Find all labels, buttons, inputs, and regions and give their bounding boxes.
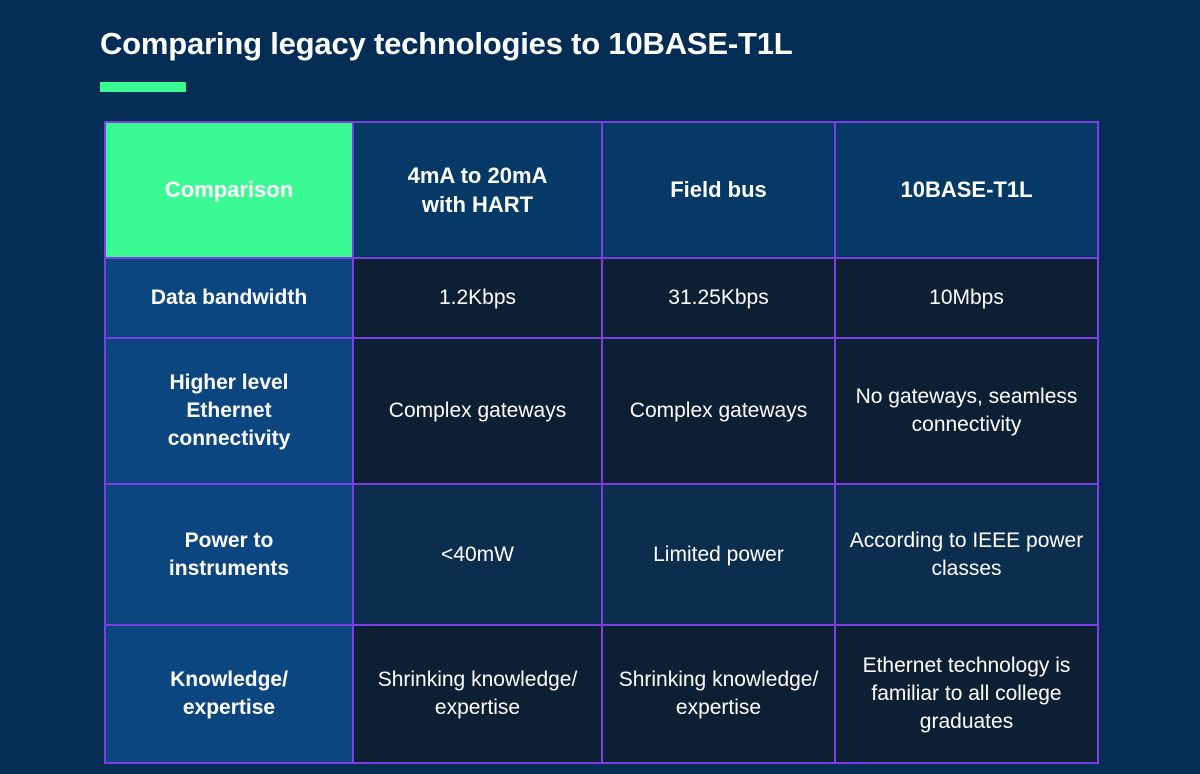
table-header-row: Comparison 4mA to 20mA with HART Field b… bbox=[105, 122, 1098, 258]
row-label-power-to-instruments: Power to instruments bbox=[105, 484, 353, 625]
header-hart-line1: 4mA to 20mA bbox=[408, 163, 548, 188]
row-label-line1: Higher level bbox=[169, 371, 288, 394]
cell-ethernet-connectivity-10base: No gateways, seamless connectivity bbox=[835, 338, 1098, 484]
header-cell-comparison: Comparison bbox=[105, 122, 353, 258]
table-row: Data bandwidth 1.2Kbps 31.25Kbps 10Mbps bbox=[105, 258, 1098, 338]
page-title: Comparing legacy technologies to 10BASE-… bbox=[100, 26, 792, 62]
cell-data-bandwidth-10base: 10Mbps bbox=[835, 258, 1098, 338]
cell-power-hart: <40mW bbox=[353, 484, 602, 625]
cell-data-bandwidth-hart: 1.2Kbps bbox=[353, 258, 602, 338]
cell-knowledge-10base: Ethernet technology is familiar to all c… bbox=[835, 625, 1098, 763]
cell-ethernet-connectivity-hart: Complex gateways bbox=[353, 338, 602, 484]
cell-knowledge-hart: Shrinking knowledge/ expertise bbox=[353, 625, 602, 763]
title-accent-bar bbox=[100, 82, 186, 92]
cell-ethernet-connectivity-fieldbus: Complex gateways bbox=[602, 338, 835, 484]
cell-data-bandwidth-fieldbus: 31.25Kbps bbox=[602, 258, 835, 338]
cell-knowledge-fieldbus: Shrinking knowledge/ expertise bbox=[602, 625, 835, 763]
comparison-table-container: Comparison 4mA to 20mA with HART Field b… bbox=[104, 121, 1097, 712]
row-label-line2: expertise bbox=[183, 696, 275, 719]
comparison-table: Comparison 4mA to 20mA with HART Field b… bbox=[104, 121, 1099, 764]
row-label-line1: Power to bbox=[185, 529, 274, 552]
row-label-line1: Knowledge/ bbox=[170, 668, 288, 691]
row-label-higher-level-ethernet-connectivity: Higher level Ethernet connectivity bbox=[105, 338, 353, 484]
row-label-line2: instruments bbox=[169, 557, 289, 580]
header-cell-hart: 4mA to 20mA with HART bbox=[353, 122, 602, 258]
header-hart-line2: with HART bbox=[422, 192, 533, 217]
header-cell-fieldbus: Field bus bbox=[602, 122, 835, 258]
table-row: Knowledge/ expertise Shrinking knowledge… bbox=[105, 625, 1098, 763]
row-label-knowledge-expertise: Knowledge/ expertise bbox=[105, 625, 353, 763]
row-label-data-bandwidth: Data bandwidth bbox=[105, 258, 353, 338]
cell-power-10base: According to IEEE power classes bbox=[835, 484, 1098, 625]
infographic-page: Comparing legacy technologies to 10BASE-… bbox=[0, 0, 1200, 774]
row-label-line2: Ethernet bbox=[186, 399, 271, 422]
header-cell-10base-t1l: 10BASE-T1L bbox=[835, 122, 1098, 258]
row-label-line3: connectivity bbox=[168, 427, 291, 450]
cell-power-fieldbus: Limited power bbox=[602, 484, 835, 625]
table-row: Power to instruments <40mW Limited power… bbox=[105, 484, 1098, 625]
table-row: Higher level Ethernet connectivity Compl… bbox=[105, 338, 1098, 484]
